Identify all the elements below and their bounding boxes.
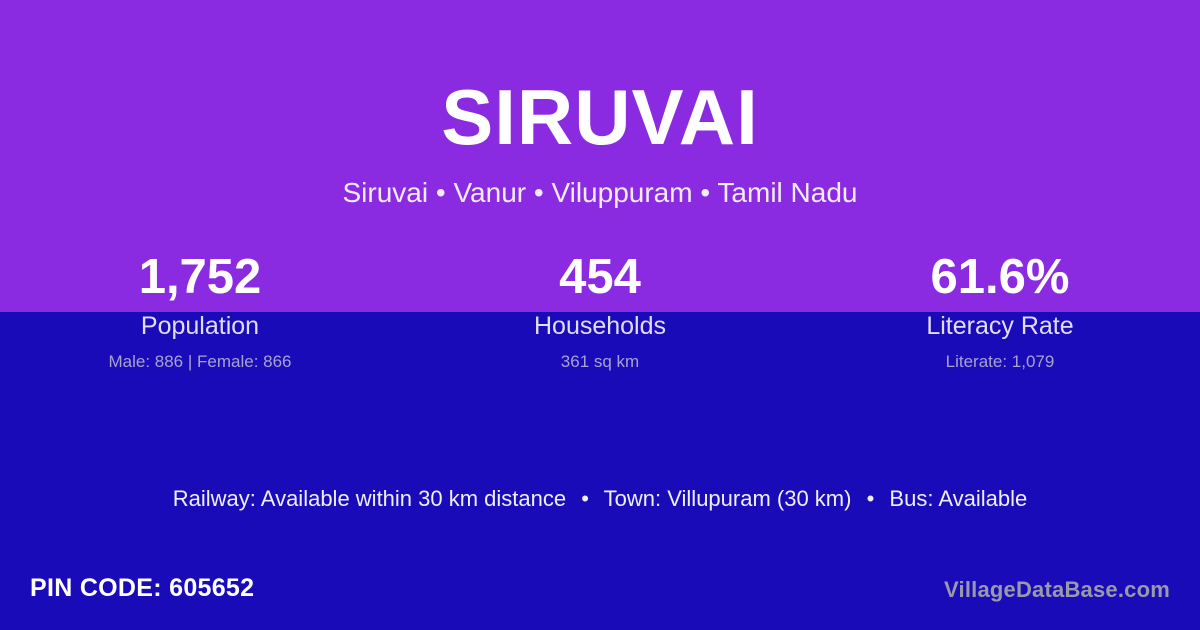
stat-literacy-rate-label: Literacy Rate	[800, 311, 1200, 341]
stat-households-value: 454	[400, 250, 800, 305]
page-title: SIRUVAI	[0, 78, 1200, 156]
amenity-separator-1: •	[572, 486, 598, 511]
amenities-row: Railway: Available within 30 km distance…	[0, 485, 1200, 514]
amenity-bus: Bus: Available	[889, 486, 1027, 511]
stat-households-sub: 361 sq km	[400, 352, 800, 372]
village-info-card: SIRUVAI Siruvai • Vanur • Viluppuram • T…	[0, 0, 1200, 630]
site-brand-label: VillageDataBase.com	[944, 577, 1170, 603]
stat-households-label: Households	[400, 311, 800, 341]
stat-population-label: Population	[0, 311, 400, 341]
amenity-separator-2: •	[858, 486, 884, 511]
amenity-railway: Railway: Available within 30 km distance	[173, 486, 566, 511]
stat-population-sub: Male: 886 | Female: 866	[0, 352, 400, 372]
stat-literacy-rate: 61.6% Literacy Rate Literate: 1,079	[800, 250, 1200, 372]
card-header: SIRUVAI Siruvai • Vanur • Viluppuram • T…	[0, 78, 1200, 209]
stat-literacy-rate-sub: Literate: 1,079	[800, 352, 1200, 372]
pin-code-label: PIN CODE: 605652	[30, 574, 254, 603]
stat-households: 454 Households 361 sq km	[400, 250, 800, 372]
card-content: SIRUVAI Siruvai • Vanur • Viluppuram • T…	[0, 0, 1200, 630]
stat-literacy-rate-value: 61.6%	[800, 250, 1200, 305]
breadcrumb: Siruvai • Vanur • Viluppuram • Tamil Nad…	[0, 178, 1200, 209]
statistics-row: 1,752 Population Male: 886 | Female: 866…	[0, 250, 1200, 372]
stat-population: 1,752 Population Male: 886 | Female: 866	[0, 250, 400, 372]
card-footer: PIN CODE: 605652 VillageDataBase.com	[0, 572, 1200, 630]
amenity-town: Town: Villupuram (30 km)	[604, 486, 852, 511]
stat-population-value: 1,752	[0, 250, 400, 305]
